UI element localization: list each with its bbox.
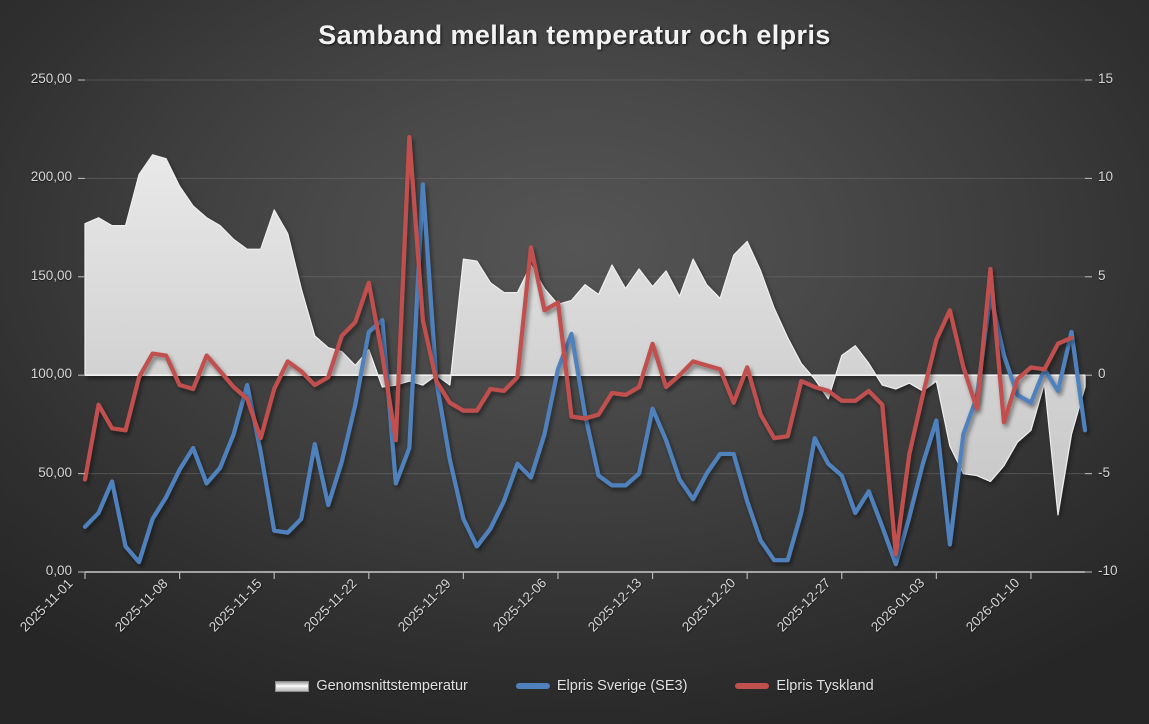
area-swatch-icon	[275, 681, 309, 692]
data-series-layer	[85, 137, 1085, 564]
line-swatch-icon-germany	[735, 683, 769, 689]
left-axis-tick-label: 100,00	[0, 366, 72, 381]
left-axis-tick-label: 200,00	[0, 169, 72, 184]
series-area-temperature	[85, 155, 1085, 515]
legend-item-germany[interactable]: Elpris Tyskland	[735, 678, 873, 694]
right-axis-tick-label: 15	[1098, 71, 1113, 86]
left-axis-tick-label: 50,00	[0, 465, 72, 480]
left-axis-tick-label: 150,00	[0, 268, 72, 283]
line-swatch-icon-sweden	[516, 683, 550, 689]
legend-item-temperature[interactable]: Genomsnittstemperatur	[275, 678, 468, 694]
right-axis-tick-label: 5	[1098, 268, 1106, 283]
right-axis-tick-label: 10	[1098, 169, 1113, 184]
legend-label-temperature: Genomsnittstemperatur	[316, 678, 468, 694]
right-axis-tick-label: -10	[1098, 563, 1118, 578]
chart-legend: Genomsnittstemperatur Elpris Sverige (SE…	[0, 678, 1149, 694]
legend-item-sweden[interactable]: Elpris Sverige (SE3)	[516, 678, 688, 694]
right-axis-tick-label: 0	[1098, 366, 1106, 381]
legend-label-germany: Elpris Tyskland	[776, 678, 873, 694]
chart-container: Samband mellan temperatur och elpris 0,0…	[0, 0, 1149, 724]
legend-label-sweden: Elpris Sverige (SE3)	[557, 678, 688, 694]
left-axis-tick-label: 250,00	[0, 71, 72, 86]
right-axis-tick-label: -5	[1098, 465, 1110, 480]
left-axis-tick-label: 0,00	[0, 563, 72, 578]
